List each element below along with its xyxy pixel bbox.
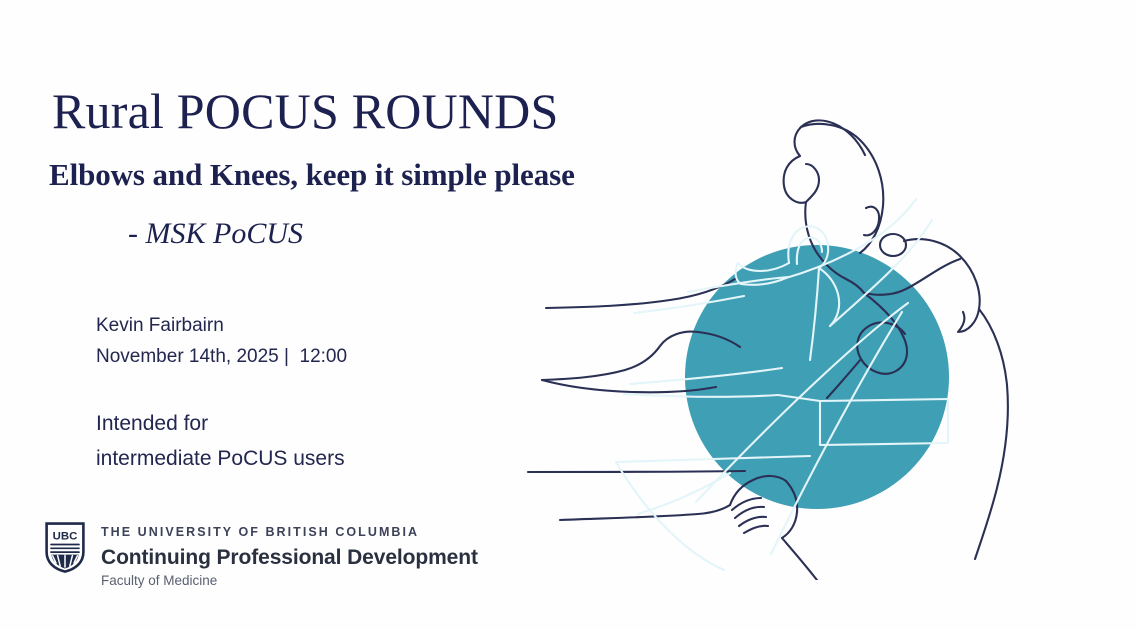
ubc-unit-line: Continuing Professional Development	[101, 546, 478, 570]
ubc-university-line: THE UNIVERSITY OF BRITISH COLUMBIA	[101, 525, 478, 539]
page-title: Rural POCUS ROUNDS	[52, 82, 558, 140]
ubc-shield-text: UBC	[53, 531, 78, 543]
text-column: Rural POCUS ROUNDS Elbows and Knees, kee…	[0, 0, 620, 629]
ubc-faculty-line: Faculty of Medicine	[101, 573, 478, 588]
ubc-shield-icon: UBC	[45, 522, 85, 573]
presenter-name: Kevin Fairbairn	[96, 315, 224, 337]
ubc-logo: UBC THE UNIVERSITY OF BR	[45, 522, 478, 588]
slide-subtitle: Elbows and Knees, keep it simple please	[49, 157, 575, 193]
ubc-logo-text: THE UNIVERSITY OF BRITISH COLUMBIA Conti…	[101, 522, 478, 588]
intended-audience: Intended for intermediate PoCUS users	[96, 406, 345, 476]
slide-tagline: - MSK PoCUS	[128, 217, 303, 251]
session-datetime: November 14th, 2025 | 12:00	[96, 346, 347, 368]
presentation-slide: Rural POCUS ROUNDS Elbows and Knees, kee…	[0, 0, 1136, 629]
